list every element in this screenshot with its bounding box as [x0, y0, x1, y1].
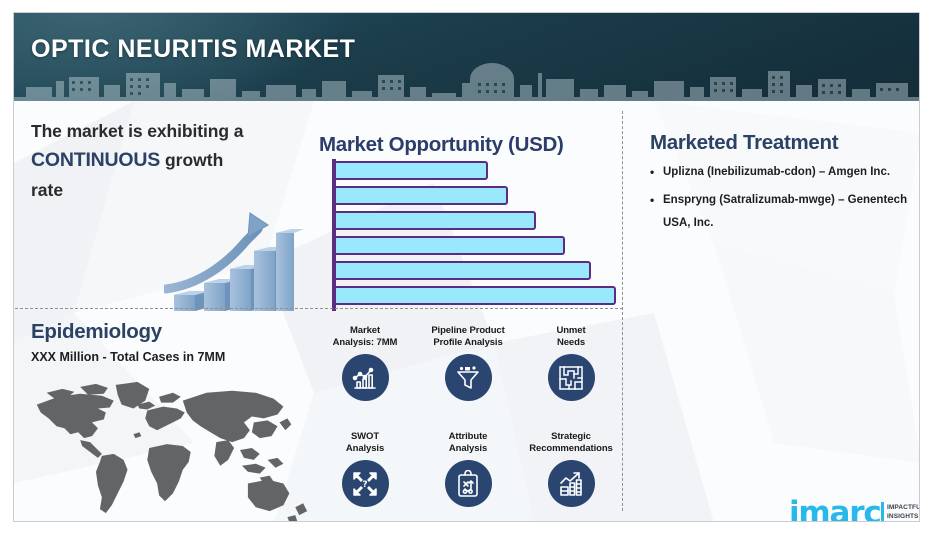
marketed-treatment-title: Marketed Treatment: [650, 131, 838, 155]
funnel-icon[interactable]: [445, 354, 492, 401]
list-item: Uplizna (Inebilizumab-cdon) – Amgen Inc.: [650, 161, 918, 184]
intro-line-2: CONTINUOUS growth: [31, 146, 311, 176]
tile-label-line1: Market: [314, 325, 416, 337]
logo-tagline: IMPACTFUL INSIGHTS: [887, 504, 920, 521]
world-map-icon: [19, 375, 315, 522]
epidemiology-title: Epidemiology: [31, 320, 162, 344]
tile-label-line1: Strategic: [520, 431, 622, 443]
tile-label-line2: Recommendations: [520, 443, 622, 455]
growth-bars-arrow-icon[interactable]: [548, 460, 595, 507]
intro-line-2-rest: growth: [160, 150, 223, 170]
chart-bar: [336, 261, 591, 280]
intro-line-1: The market is exhibiting a: [31, 117, 311, 146]
clipboard-strategy-icon[interactable]: [445, 460, 492, 507]
header-banner: OPTIC NEURITIS MARKET: [14, 13, 920, 101]
tile-label-line1: Attribute: [417, 431, 519, 443]
growth-chart-graphic: [164, 199, 304, 311]
vertical-divider: [622, 111, 623, 511]
svg-text:?: ?: [362, 480, 367, 490]
market-opportunity-title: Market Opportunity (USD): [319, 133, 564, 157]
chart-bar: [336, 286, 616, 305]
logo-tagline-line1: IMPACTFUL: [887, 504, 920, 513]
analysis-tile-swot[interactable]: SWOT Analysis ?: [314, 431, 416, 507]
logo-tagline-line2: INSIGHTS: [887, 513, 920, 522]
intro-statement: The market is exhibiting a CONTINUOUS gr…: [31, 117, 311, 205]
chart-bar: [336, 186, 508, 205]
marketed-treatment-list: Uplizna (Inebilizumab-cdon) – Amgen Inc.…: [650, 161, 918, 240]
epidemiology-subtitle: XXX Million - Total Cases in 7MM: [31, 350, 225, 364]
horizontal-divider: [15, 308, 623, 309]
logo-wordmark: imarc: [789, 498, 881, 522]
analysis-tile-market[interactable]: Market Analysis: 7MM: [314, 325, 416, 401]
analysis-tile-grid: Market Analysis: 7MM Pipeline Product Pr…: [314, 325, 622, 522]
city-skyline-icon: [14, 59, 920, 101]
market-opportunity-chart: [332, 159, 622, 311]
tile-label-line2: Analysis: 7MM: [314, 337, 416, 349]
tile-label-line2: Profile Analysis: [417, 337, 519, 349]
tile-label-line1: SWOT: [314, 431, 416, 443]
analysis-tile-unmet-needs[interactable]: Unmet Needs: [520, 325, 622, 401]
intro-keyword: CONTINUOUS: [31, 149, 160, 171]
page-title: OPTIC NEURITIS MARKET: [31, 35, 355, 64]
imarc-logo: imarc IMPACTFUL INSIGHTS: [789, 495, 917, 522]
maze-icon[interactable]: [548, 354, 595, 401]
tile-label-line2: Analysis: [314, 443, 416, 455]
analysis-tile-strategic-recommendations[interactable]: Strategic Recommendations: [520, 431, 622, 507]
bar-chart-trend-icon[interactable]: [342, 354, 389, 401]
analysis-tile-pipeline-product[interactable]: Pipeline Product Profile Analysis: [417, 325, 519, 401]
tile-label-line2: Analysis: [417, 443, 519, 455]
chart-bar: [336, 161, 488, 180]
infographic-page: OPTIC NEURITIS MARKET The market is exhi…: [0, 0, 933, 533]
chart-bar: [336, 236, 565, 255]
chart-bar: [336, 211, 536, 230]
tile-label-line1: Pipeline Product: [417, 325, 519, 337]
swot-arrows-icon[interactable]: ?: [342, 460, 389, 507]
tile-label-line1: Unmet: [520, 325, 622, 337]
analysis-tile-attribute[interactable]: Attribute Analysis: [417, 431, 519, 507]
tile-label-line2: Needs: [520, 337, 622, 349]
infographic-card: OPTIC NEURITIS MARKET The market is exhi…: [13, 12, 920, 522]
list-item: Enspryng (Satralizumab-mwge) – Genentech…: [650, 189, 918, 235]
logo-divider: [881, 502, 884, 522]
